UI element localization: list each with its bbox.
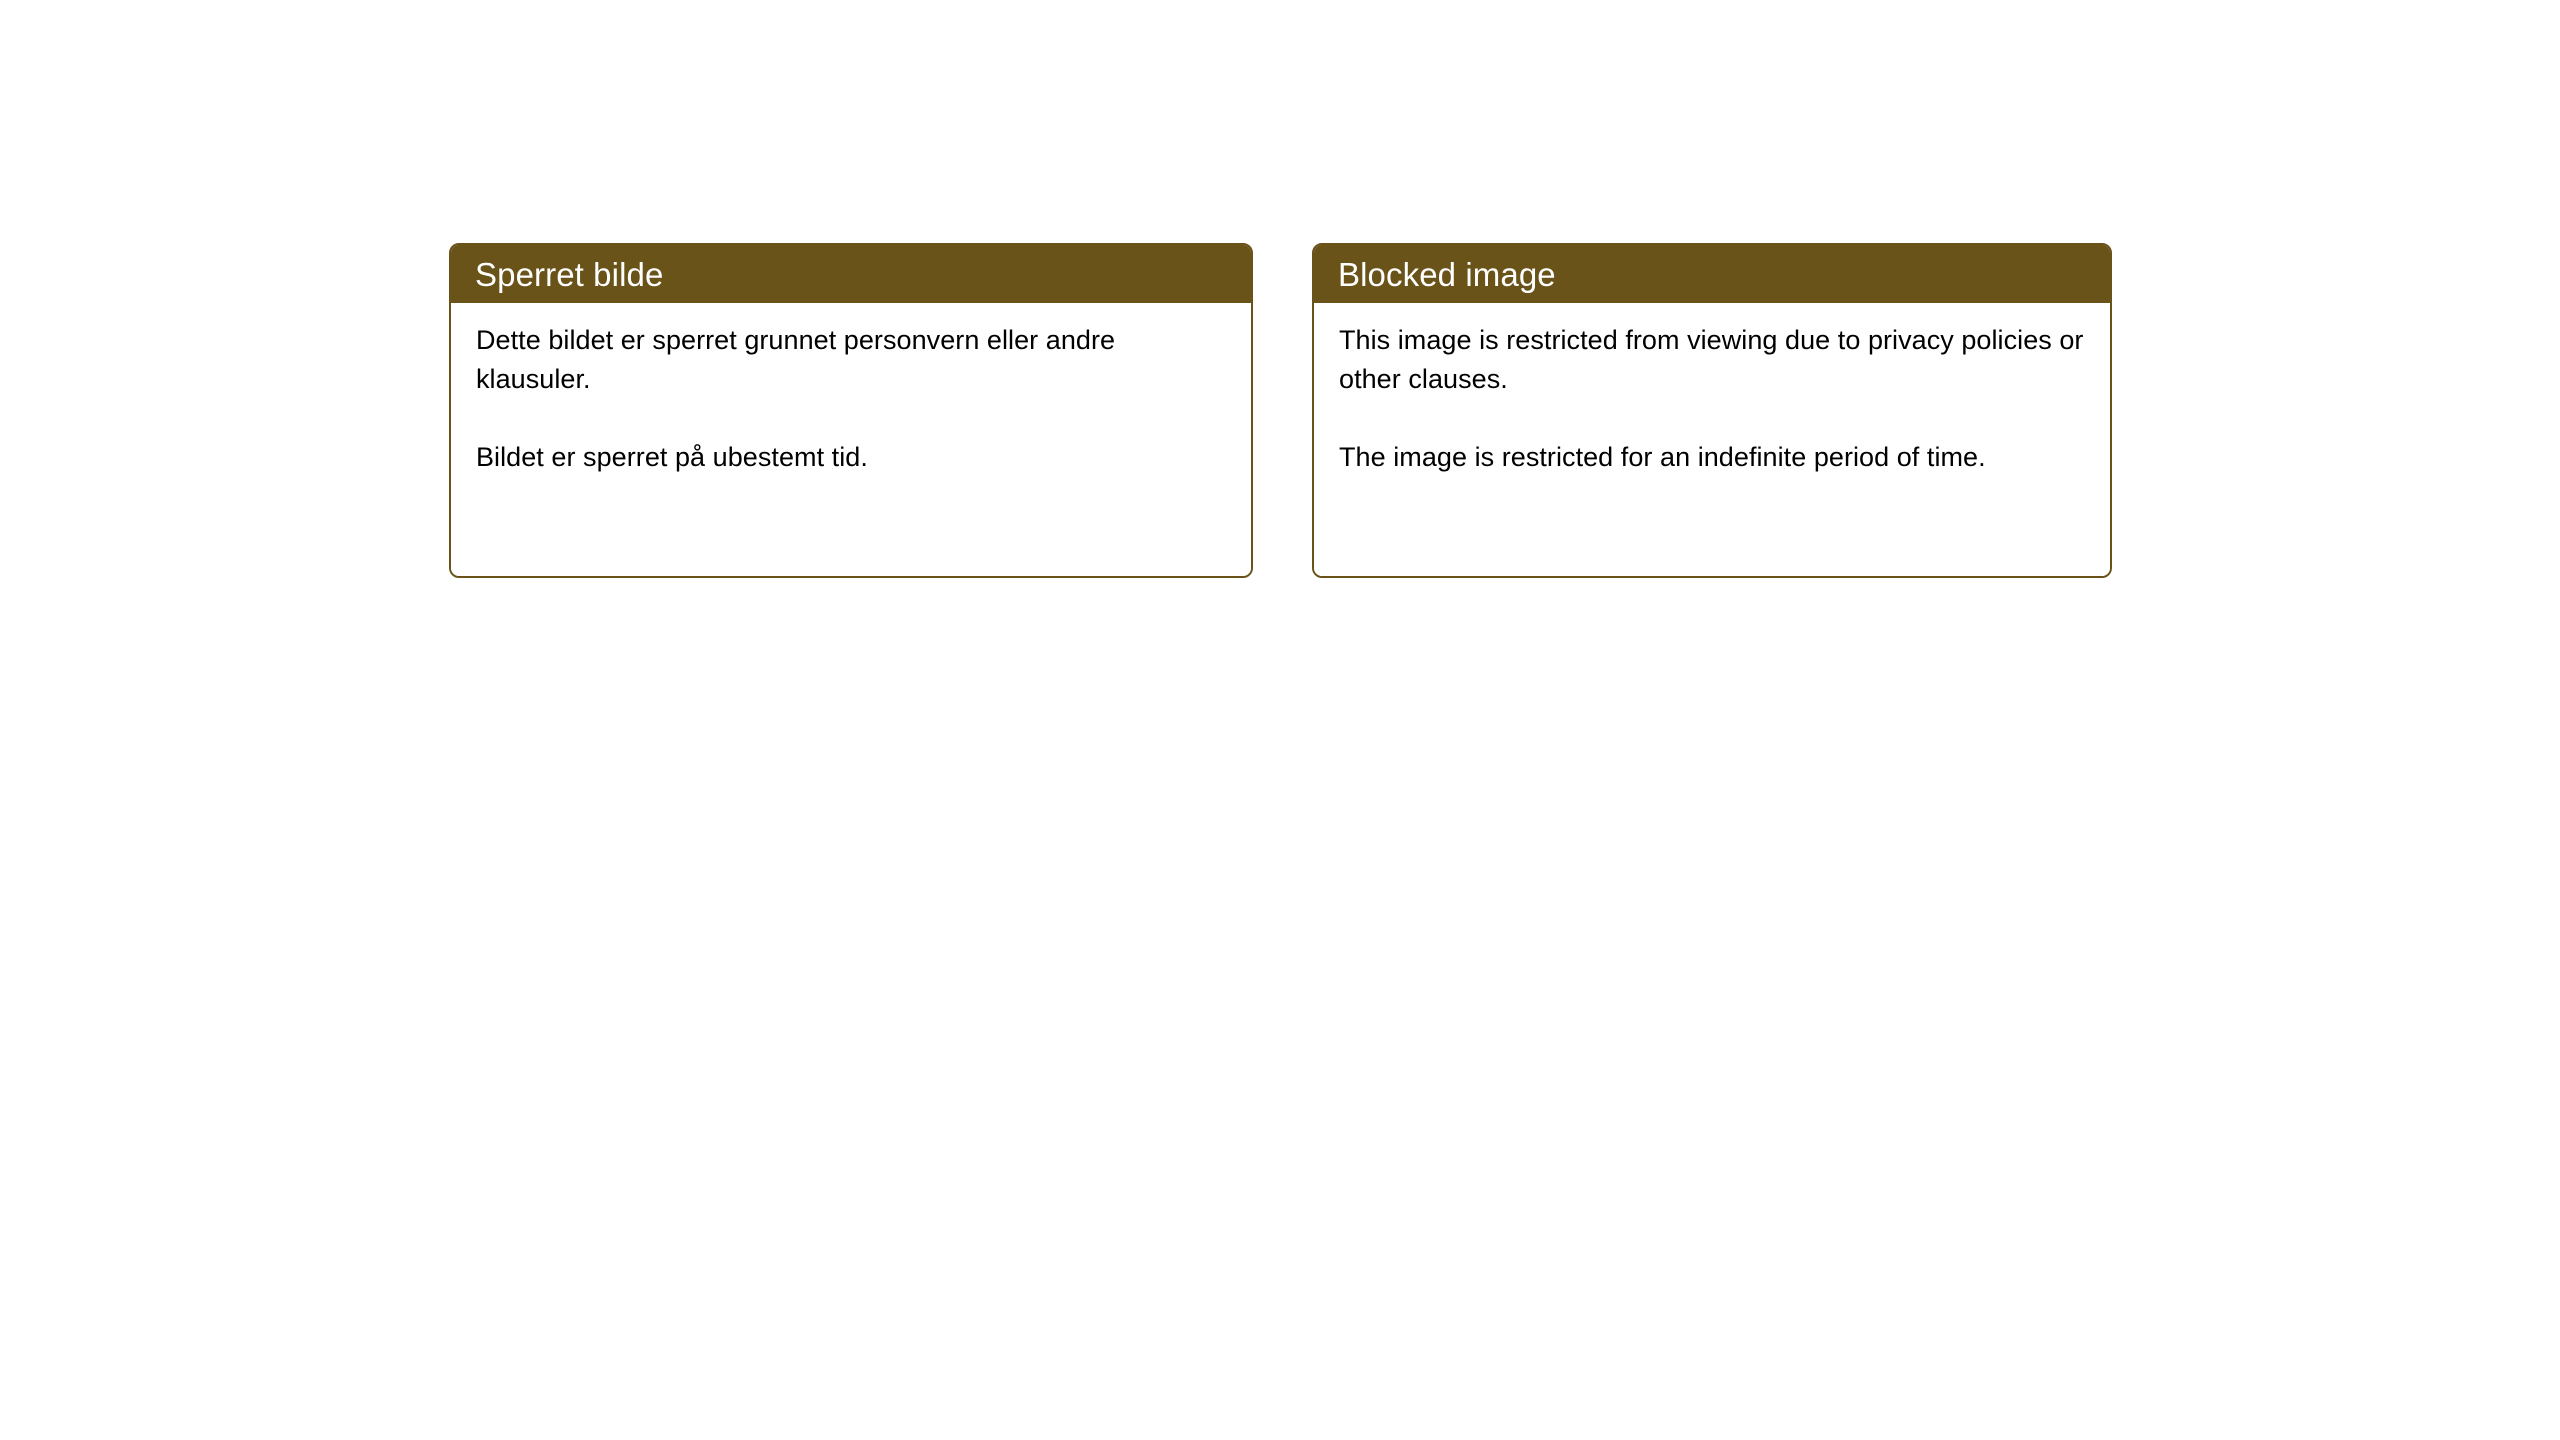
panel-header-english: Blocked image <box>1314 245 2110 303</box>
blocked-image-notice-english: Blocked image This image is restricted f… <box>1312 243 2112 578</box>
panel-paragraph-secondary-norwegian: Bildet er sperret på ubestemt tid. <box>476 438 1225 477</box>
panel-body-norwegian: Dette bildet er sperret grunnet personve… <box>451 303 1251 576</box>
blocked-image-notice-norwegian: Sperret bilde Dette bildet er sperret gr… <box>449 243 1253 578</box>
page-canvas: Sperret bilde Dette bildet er sperret gr… <box>0 0 2560 1440</box>
panel-paragraph-primary-english: This image is restricted from viewing du… <box>1339 321 2084 399</box>
panel-paragraph-secondary-english: The image is restricted for an indefinit… <box>1339 438 2084 477</box>
panel-header-norwegian: Sperret bilde <box>451 245 1251 303</box>
panel-paragraph-primary-norwegian: Dette bildet er sperret grunnet personve… <box>476 321 1225 399</box>
panel-body-english: This image is restricted from viewing du… <box>1314 303 2110 576</box>
panel-title-norwegian: Sperret bilde <box>475 258 663 291</box>
panel-title-english: Blocked image <box>1338 258 1556 291</box>
